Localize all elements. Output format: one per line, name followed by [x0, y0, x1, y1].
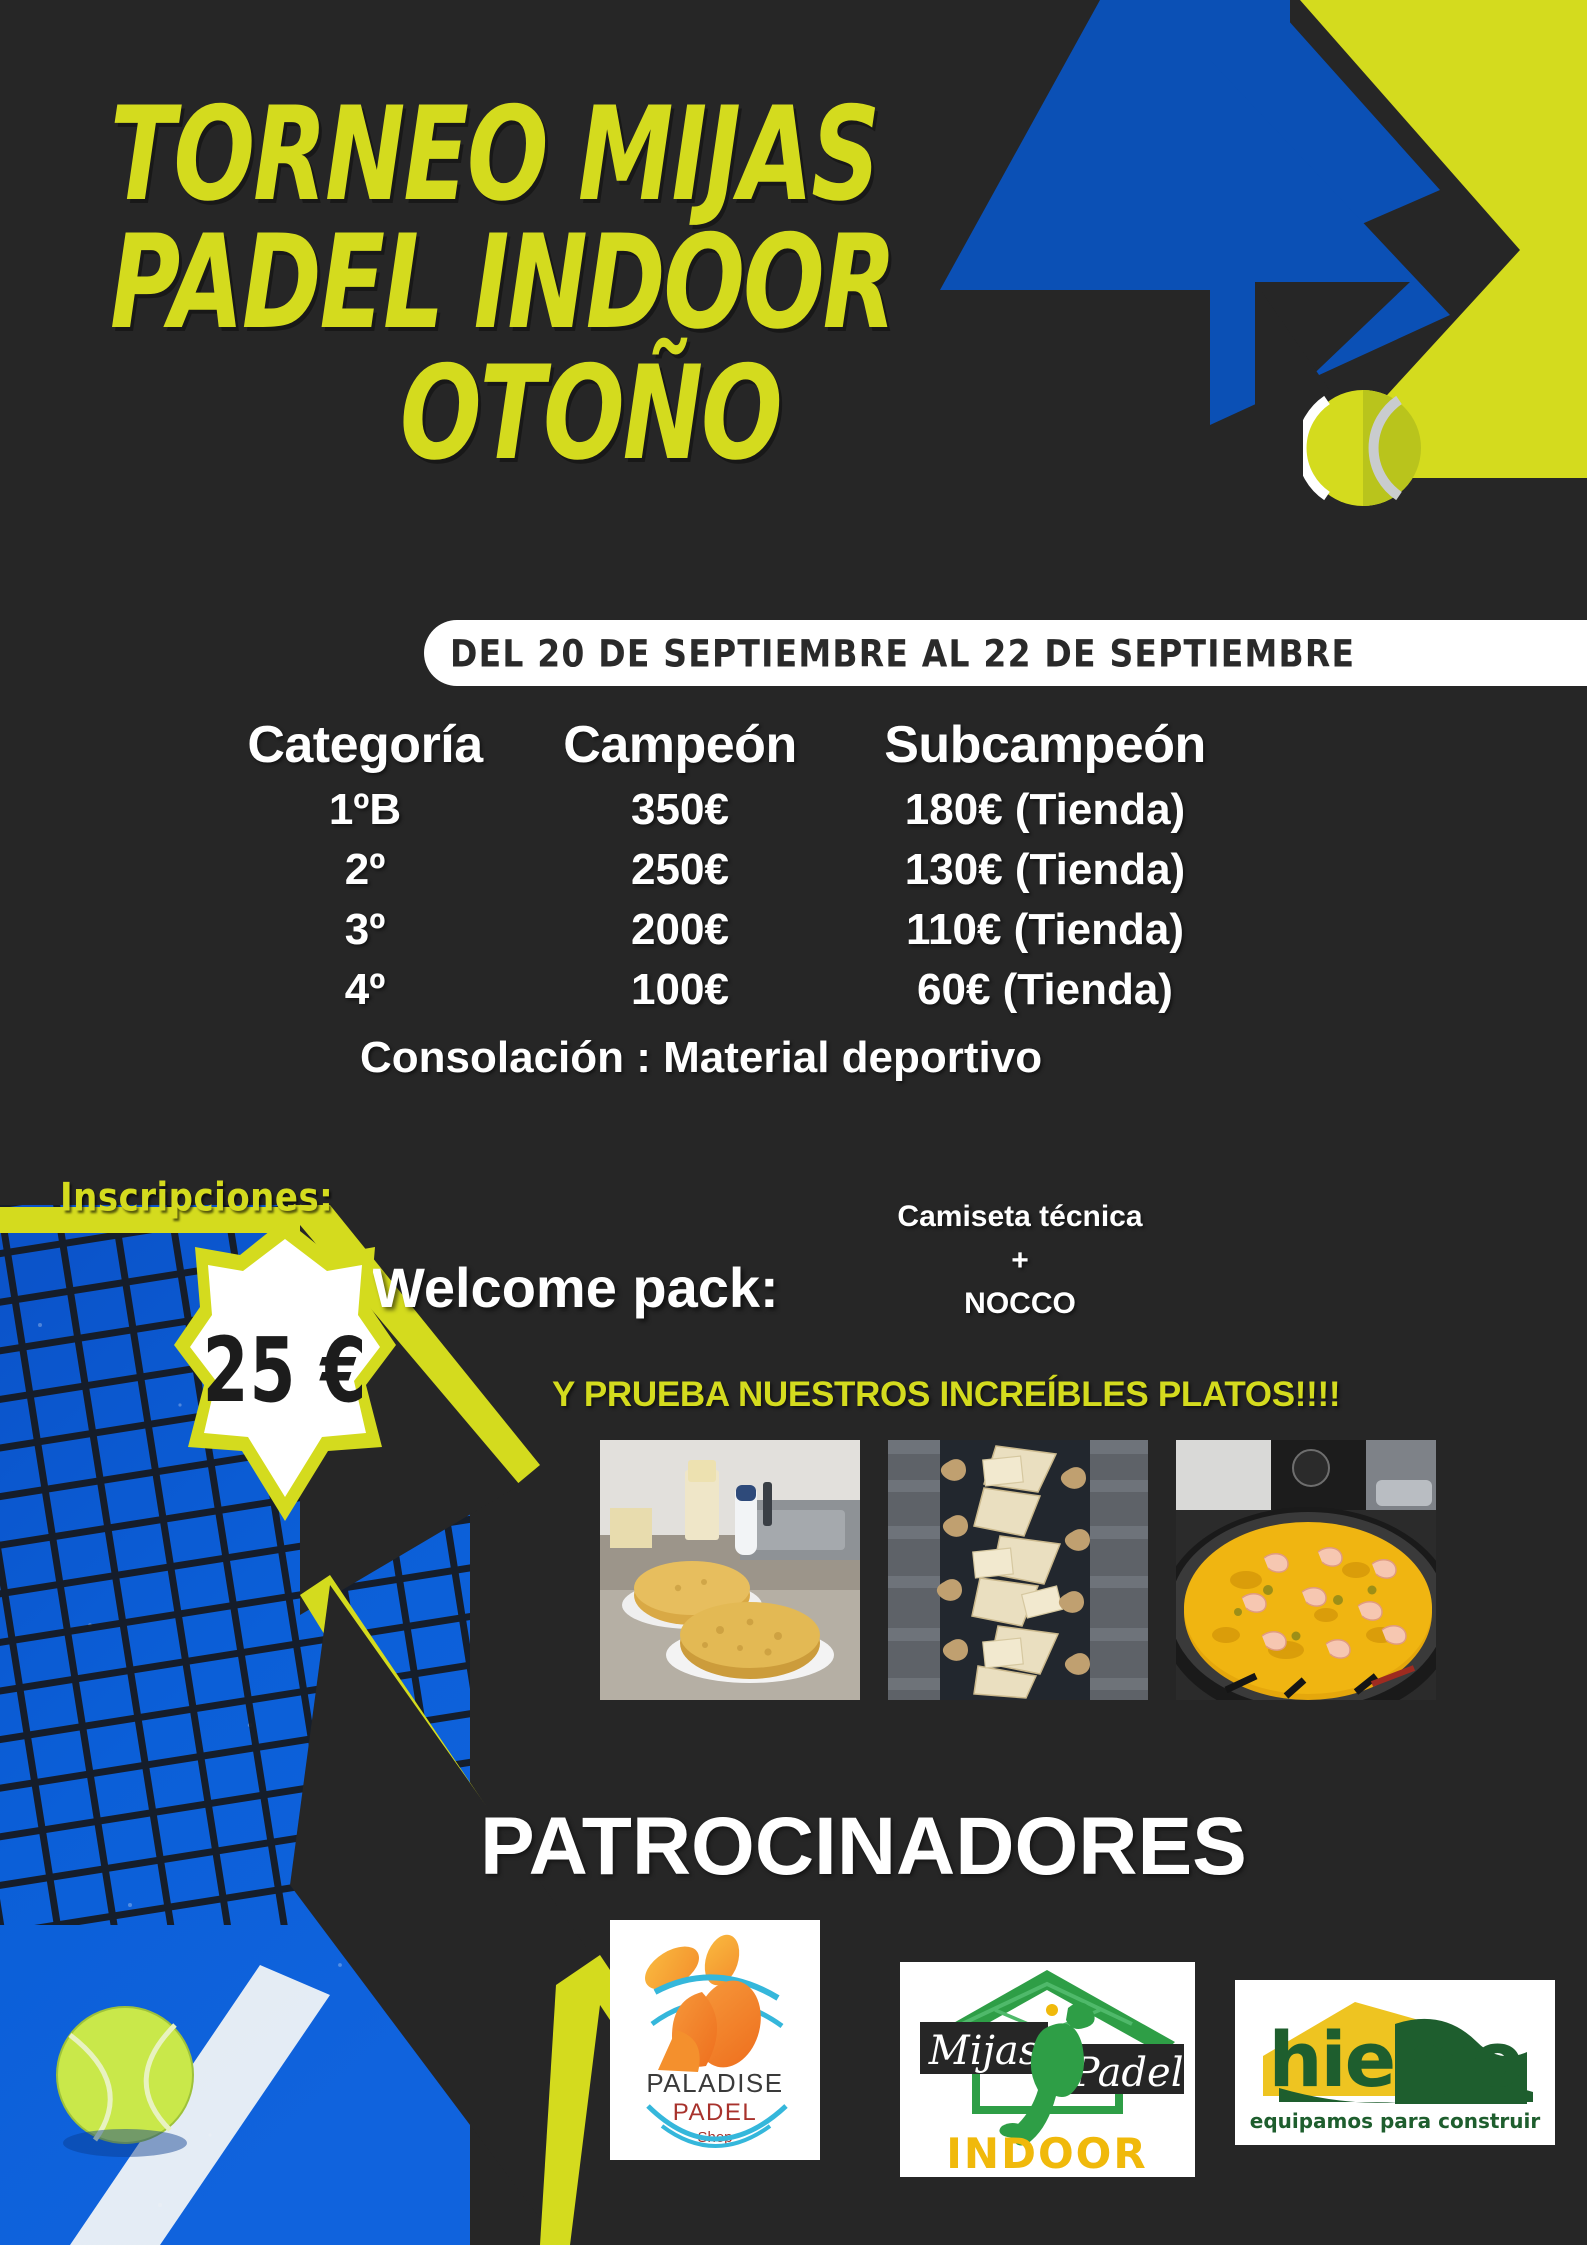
hiemo-tagline: equipamos para construir: [1250, 2109, 1541, 2133]
table-row: 3º 200€ 110€ (Tienda): [200, 905, 1400, 955]
sponsors-title: PATROCINADORES: [480, 1800, 1247, 1894]
tortilla-espanola-photo: [600, 1440, 860, 1700]
prize-table: Categoría Campeón Subcampeón 1ºB 350€ 18…: [200, 715, 1400, 1083]
table-body: 1ºB 350€ 180€ (Tienda) 2º 250€ 130€ (Tie…: [200, 785, 1400, 1015]
cell-subcampeon: 130€ (Tienda): [830, 845, 1260, 895]
cell-subcampeon: 180€ (Tienda): [830, 785, 1260, 835]
table-header-row: Categoría Campeón Subcampeón: [200, 715, 1400, 775]
table-row: 2º 250€ 130€ (Tienda): [200, 845, 1400, 895]
sponsor-logo-paladise[interactable]: PALADISE PADEL Shop: [610, 1920, 820, 2160]
hiemo-wordmark: hiemo: [1268, 2015, 1521, 2104]
welcome-pack-contents: Camiseta técnica + NOCCO: [770, 1195, 1270, 1326]
cell-categoria: 4º: [200, 965, 530, 1015]
title-line-1: TORNEO MIJAS: [0, 95, 1290, 214]
cell-campeon: 250€: [530, 845, 830, 895]
welcome-pack-item-2: NOCCO: [770, 1282, 1270, 1326]
mijas-word-2: Padel: [1071, 2050, 1183, 2096]
sponsor-logo-mijas-padel[interactable]: Mijas Padel INDOOR: [900, 1962, 1195, 2177]
title-line-3: OTOÑO: [0, 354, 1290, 473]
welcome-pack-plus: +: [770, 1239, 1270, 1283]
food-headline: Y PRUEBA NUESTROS INCREÍBLES PLATOS!!!!: [552, 1375, 1340, 1415]
paladise-word-1: PALADISE: [646, 2068, 783, 2098]
cell-subcampeon: 60€ (Tienda): [830, 965, 1260, 1015]
column-header-categoria: Categoría: [200, 715, 530, 775]
registration-price-text: 25 €: [170, 1161, 400, 1580]
sponsor-logo-hiemo[interactable]: hiemo equipamos para construir: [1235, 1980, 1555, 2145]
column-header-campeon: Campeón: [530, 715, 830, 775]
mijas-word-3: INDOOR: [946, 2129, 1147, 2177]
date-banner-text: DEL 20 DE SEPTIEMBRE AL 22 DE SEPTIEMBRE: [424, 631, 1355, 675]
welcome-pack-item-1: Camiseta técnica: [770, 1195, 1270, 1239]
poster-title: TORNEO MIJAS PADEL INDOOR OTOÑO: [0, 95, 1290, 442]
food-photo-gallery: [600, 1440, 1436, 1700]
cell-categoria: 2º: [200, 845, 530, 895]
cell-campeon: 350€: [530, 785, 830, 835]
queso-y-nueces-photo: [888, 1440, 1148, 1700]
tennis-ball-icon: [1303, 388, 1423, 508]
paladise-word-2: PADEL: [673, 2099, 757, 2126]
mijas-word-1: Mijas: [928, 2028, 1040, 2074]
cell-categoria: 3º: [200, 905, 530, 955]
paella-photo: [1176, 1440, 1436, 1700]
table-row: 4º 100€ 60€ (Tienda): [200, 965, 1400, 1015]
welcome-pack-label: Welcome pack:: [372, 1255, 779, 1320]
title-line-2: PADEL INDOOR: [0, 223, 1290, 342]
cell-campeon: 200€: [530, 905, 830, 955]
cell-categoria: 1ºB: [200, 785, 530, 835]
cell-subcampeon: 110€ (Tienda): [830, 905, 1260, 955]
consolation-prize: Consolación : Material deportivo: [200, 1033, 1400, 1083]
cell-campeon: 100€: [530, 965, 830, 1015]
poster-canvas: TORNEO MIJAS PADEL INDOOR OTOÑO DEL 20 D…: [0, 0, 1587, 2245]
date-banner: DEL 20 DE SEPTIEMBRE AL 22 DE SEPTIEMBRE: [424, 620, 1587, 686]
registration-price-badge: 25 €: [170, 1215, 400, 1525]
column-header-subcampeon: Subcampeón: [830, 715, 1260, 775]
table-row: 1ºB 350€ 180€ (Tienda): [200, 785, 1400, 835]
